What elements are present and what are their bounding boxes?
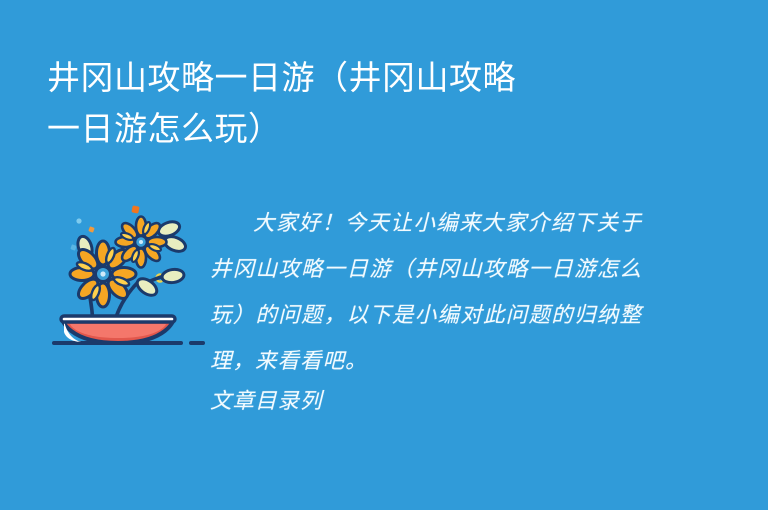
- toc-heading: 文章目录列: [210, 384, 642, 418]
- flower-bowl: [61, 316, 175, 343]
- article-body: 大家好！今天让小编来大家介绍下关于井冈山攻略一日游（井冈山攻略一日游怎么玩）的问…: [210, 200, 642, 418]
- page-title: 井冈山攻略一日游（井冈山攻略 一日游怎么玩）: [47, 52, 687, 154]
- flower-small: [116, 217, 167, 268]
- potted-flowers-illustration: [48, 192, 223, 372]
- article-card: 井冈山攻略一日游（井冈山攻略 一日游怎么玩）: [0, 0, 768, 510]
- title-block: 井冈山攻略一日游（井冈山攻略 一日游怎么玩）: [47, 52, 687, 154]
- potted-flowers-svg: [48, 192, 223, 372]
- intro-paragraph: 大家好！今天让小编来大家介绍下关于井冈山攻略一日游（井冈山攻略一日游怎么玩）的问…: [210, 200, 642, 384]
